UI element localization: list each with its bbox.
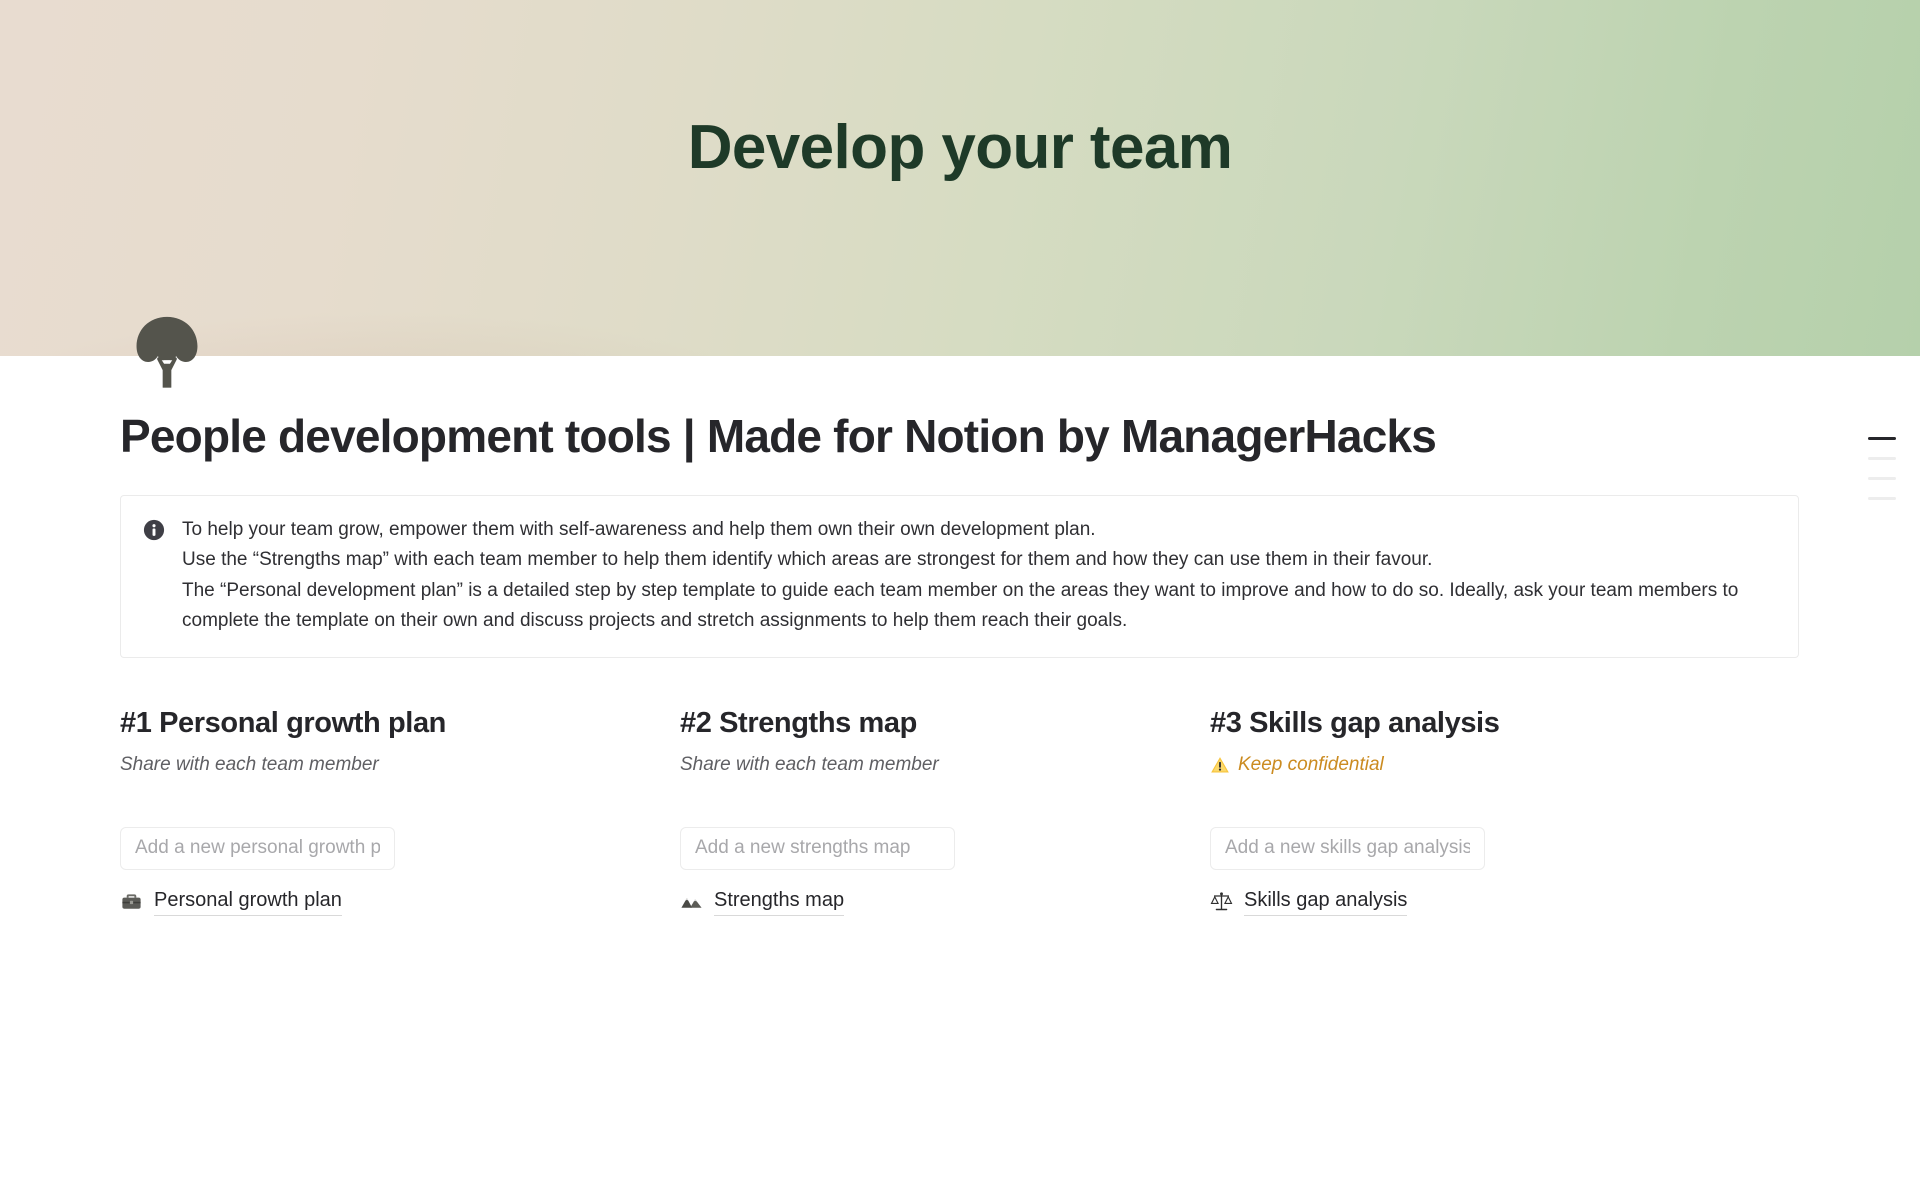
table-of-contents-indicator[interactable]	[1862, 437, 1896, 500]
callout-line-2: Use the “Strengths map” with each team m…	[182, 545, 1776, 576]
callout-line-3: The “Personal development plan” is a det…	[182, 576, 1776, 637]
column-skills-gap-analysis: #3 Skills gap analysis Keep confidential	[1210, 705, 1770, 917]
toc-bar[interactable]	[1868, 477, 1896, 480]
column-subtitle-warning: Keep confidential	[1210, 752, 1770, 779]
add-personal-growth-plan-input[interactable]	[120, 827, 395, 871]
page-title: People development tools | Made for Noti…	[120, 410, 1800, 463]
warning-icon	[1210, 755, 1230, 775]
mountain-icon	[680, 890, 703, 913]
page-cover: Develop your team	[0, 0, 1920, 356]
add-skills-gap-analysis-input[interactable]	[1210, 827, 1485, 871]
database-link-personal-growth-plan[interactable]: Personal growth plan	[120, 886, 680, 916]
page-content: People development tools | Made for Noti…	[120, 410, 1800, 916]
database-link-strengths-map[interactable]: Strengths map	[680, 886, 1210, 916]
column-heading: #1 Personal growth plan	[120, 705, 680, 741]
database-link-label: Skills gap analysis	[1244, 886, 1407, 916]
notion-page: Develop your team People development too…	[0, 0, 1920, 1199]
database-link-label: Personal growth plan	[154, 886, 342, 916]
toc-bar-active[interactable]	[1868, 437, 1896, 440]
database-link-skills-gap-analysis[interactable]: Skills gap analysis	[1210, 886, 1770, 916]
column-subtitle-text: Keep confidential	[1238, 752, 1384, 779]
toc-bar[interactable]	[1868, 457, 1896, 460]
add-strengths-map-input[interactable]	[680, 827, 955, 871]
callout-text: To help your team grow, empower them wit…	[182, 515, 1776, 637]
column-strengths-map: #2 Strengths map Share with each team me…	[680, 705, 1210, 917]
info-callout: To help your team grow, empower them wit…	[120, 495, 1799, 658]
column-subtitle: Share with each team member	[680, 752, 1210, 779]
column-subtitle: Share with each team member	[120, 752, 680, 779]
tree-icon[interactable]	[128, 312, 206, 390]
info-icon	[143, 519, 165, 541]
callout-line-1: To help your team grow, empower them wit…	[182, 515, 1776, 546]
column-heading: #3 Skills gap analysis	[1210, 705, 1770, 741]
briefcase-icon	[120, 890, 143, 913]
column-list: #1 Personal growth plan Share with each …	[120, 705, 1800, 917]
database-link-label: Strengths map	[714, 886, 844, 916]
column-personal-growth-plan: #1 Personal growth plan Share with each …	[120, 705, 680, 917]
column-heading: #2 Strengths map	[680, 705, 1210, 741]
scales-icon	[1210, 890, 1233, 913]
toc-bar[interactable]	[1868, 497, 1896, 500]
cover-title: Develop your team	[0, 117, 1920, 179]
